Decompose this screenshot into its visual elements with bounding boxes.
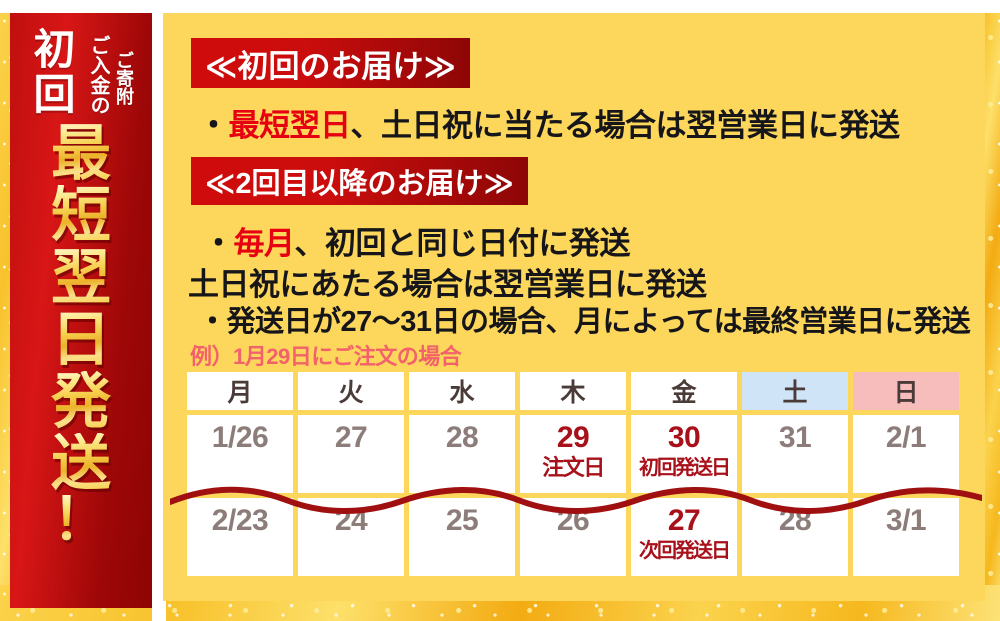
bullet-marker: ・	[203, 226, 234, 261]
heading-subsequent-delivery: ≪2回目以降のお届け≫	[191, 157, 528, 205]
banner-headline: 最 短 翌 日 発 送 ！	[10, 123, 152, 603]
calendar-cell: 1/26	[187, 415, 293, 493]
calendar-cell: 2/1	[853, 415, 959, 493]
heading-first-delivery: ≪初回のお届け≫	[191, 38, 470, 88]
calendar-cell: 27	[298, 415, 404, 493]
calendar-header-row: 月 火 水 木 金 土 日	[187, 372, 967, 410]
calendar-cell: 2/23	[187, 498, 293, 576]
example-calendar: 月 火 水 木 金 土 日 1/26272829注文日30初回発送日312/1 …	[187, 372, 967, 576]
calendar-date-number: 2/1	[886, 421, 926, 455]
calendar-date-number: 28	[446, 421, 478, 455]
headline-char: 短	[51, 185, 111, 247]
calendar-date-number: 30	[668, 421, 700, 455]
calendar-cell: 29注文日	[520, 415, 626, 493]
banner-first-time-label: 初回	[26, 27, 82, 117]
vertical-red-banner: 初回 ご入金の ご寄附 最 短 翌 日 発 送 ！	[10, 13, 152, 608]
calendar-cell: 25	[409, 498, 515, 576]
calendar-date-note: 注文日	[542, 455, 604, 481]
headline-char: 発	[51, 371, 111, 433]
banner-donation-label: ご寄附	[110, 41, 134, 115]
headline-char: 日	[51, 309, 111, 371]
calendar-date-row-1: 1/26272829注文日30初回発送日312/1	[187, 415, 967, 493]
headline-char: 翌	[51, 247, 111, 309]
weekday-header-mon: 月	[187, 372, 293, 410]
subsequent-delivery-note-3: ・発送日が27〜31日の場合、月によっては最終営業日に発送	[198, 298, 970, 340]
highlight-shortest-next-day: 最短翌日	[229, 108, 351, 143]
calendar-date-number: 3/1	[886, 504, 926, 538]
headline-char: 最	[51, 123, 111, 185]
calendar-date-note: 初回発送日	[639, 455, 729, 481]
calendar-cell: 28	[409, 415, 515, 493]
highlight-monthly: 毎月	[234, 226, 295, 261]
headline-char: ！	[52, 495, 110, 545]
weekday-header-tue: 火	[298, 372, 404, 410]
calendar-date-number: 25	[446, 504, 478, 538]
calendar-date-number: 29	[557, 421, 589, 455]
calendar-cell: 31	[742, 415, 848, 493]
calendar-cell: 28	[742, 498, 848, 576]
calendar-cell: 30初回発送日	[631, 415, 737, 493]
promo-banner: 初回 ご入金の ご寄附 最 短 翌 日 発 送 ！ ≪初回のお届け≫ ・最短翌日…	[0, 0, 1000, 621]
calendar-date-number: 27	[668, 504, 700, 538]
bullet-marker: ・	[198, 108, 229, 143]
banner-payment-label: ご入金の	[84, 33, 108, 117]
calendar-date-note: 次回発送日	[639, 538, 729, 564]
weekday-header-sat: 土	[742, 372, 848, 410]
banner-top-group: 初回 ご入金の ご寄附	[10, 27, 152, 119]
calendar-date-row-2: 2/2324252627次回発送日283/1	[187, 498, 967, 576]
calendar-date-number: 27	[335, 421, 367, 455]
weekday-header-fri: 金	[631, 372, 737, 410]
subsequent-delivery-note-rest: 、初回と同じ日付に発送	[295, 226, 631, 261]
calendar-cell: 27次回発送日	[631, 498, 737, 576]
first-delivery-note-rest: 、土日祝に当たる場合は翌営業日に発送	[351, 108, 900, 143]
calendar-date-number: 24	[335, 504, 367, 538]
weekday-header-wed: 水	[409, 372, 515, 410]
calendar-cell: 3/1	[853, 498, 959, 576]
calendar-cell: 26	[520, 498, 626, 576]
subsequent-delivery-note-1: ・毎月、初回と同じ日付に発送	[203, 218, 630, 263]
weekday-header-sun: 日	[853, 372, 959, 410]
calendar-date-number: 28	[779, 504, 811, 538]
headline-char: 送	[51, 433, 111, 495]
calendar-date-number: 1/26	[212, 421, 268, 455]
first-delivery-note: ・最短翌日、土日祝に当たる場合は翌営業日に発送	[198, 100, 900, 145]
example-label: 例）1月29日にご注文の場合	[190, 339, 461, 371]
calendar-date-number: 2/23	[212, 504, 268, 538]
calendar-date-number: 31	[779, 421, 811, 455]
weekday-header-thu: 木	[520, 372, 626, 410]
calendar-cell: 24	[298, 498, 404, 576]
calendar-date-number: 26	[557, 504, 589, 538]
top-white-margin	[0, 0, 1000, 13]
